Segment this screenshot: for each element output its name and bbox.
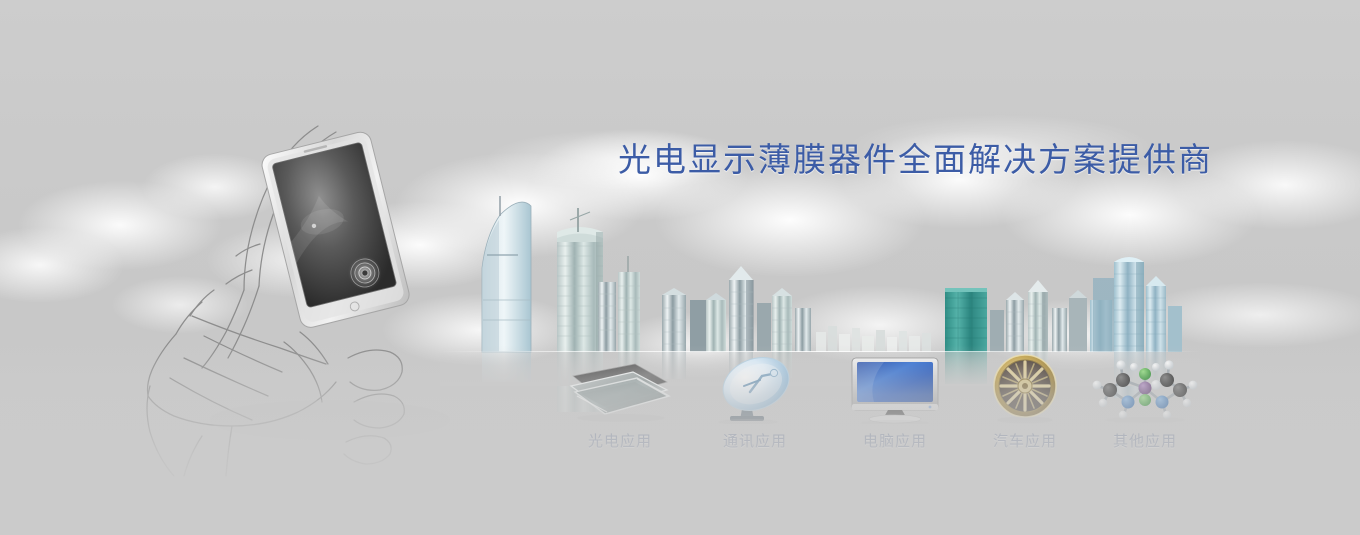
teal-tower (945, 288, 987, 352)
alloy-wheel-icon (965, 352, 1085, 424)
app-item-optoelectronic[interactable]: 光电应用 (560, 352, 680, 464)
app-label: 汽车应用 (965, 432, 1085, 450)
molecule-model-icon (1085, 352, 1205, 424)
blue-tower-group (1090, 257, 1182, 352)
skyscraper-cluster-mid (662, 266, 811, 352)
hand-holding-phone-illustration (140, 120, 490, 480)
app-item-other[interactable]: 其他应用 (1085, 352, 1205, 464)
glass-film-panels-icon (560, 352, 680, 424)
satellite-dish-icon (695, 352, 815, 424)
page-title: 光电显示薄膜器件全面解决方案提供商 (618, 140, 1213, 180)
low-rise-band (816, 326, 931, 352)
twin-towers (598, 256, 640, 352)
app-item-automotive[interactable]: 汽车应用 (965, 352, 1085, 464)
application-icon-row: 光电应用 (560, 352, 1200, 464)
app-label: 通讯应用 (695, 432, 815, 450)
app-item-computer[interactable]: 电脑应用 (835, 352, 955, 464)
skyscraper-cluster-right (990, 280, 1087, 352)
app-label: 光电应用 (560, 432, 680, 450)
hero-banner: 光电显示薄膜器件全面解决方案提供商 (0, 0, 1360, 535)
central-tower (557, 208, 603, 352)
app-item-communication[interactable]: 通讯应用 (695, 352, 815, 464)
lcd-monitor-icon (835, 352, 955, 424)
app-label: 电脑应用 (835, 432, 955, 450)
touchscreen-phone (260, 130, 412, 330)
app-label: 其他应用 (1085, 432, 1205, 450)
